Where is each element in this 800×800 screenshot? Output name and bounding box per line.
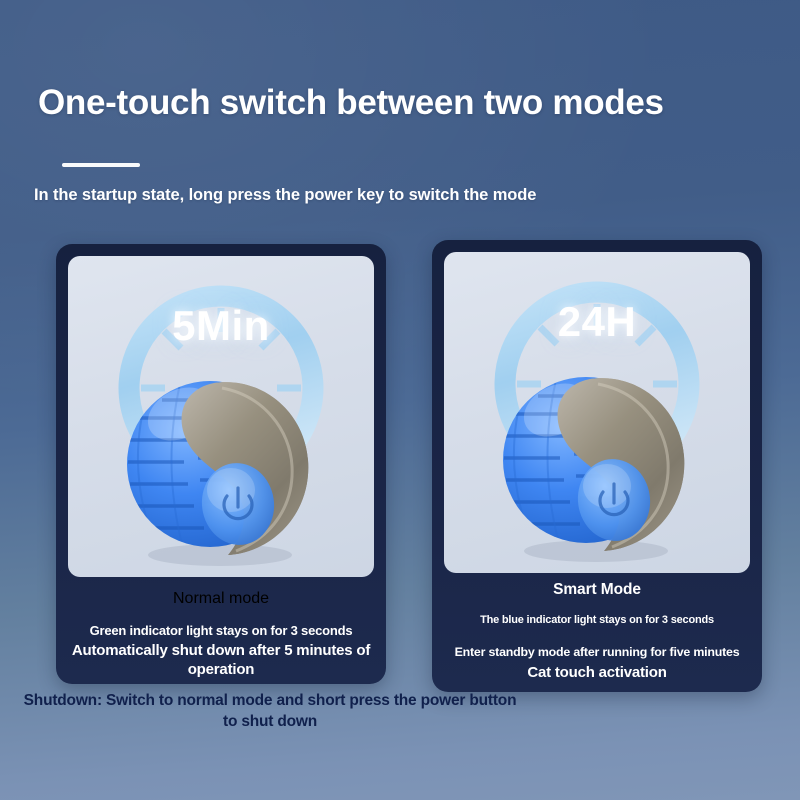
mode-desc-text-smart-1: The blue indicator light stays on for 3 …: [480, 614, 714, 626]
product-ball-normal: [118, 352, 328, 567]
mode-desc-normal-2: Automatically shut down after 5 minutes …: [56, 642, 386, 680]
product-image-panel-normal: 5Min: [68, 256, 374, 577]
mode-desc-smart-3: Cat touch activation: [432, 664, 762, 683]
page-title: One-touch switch between two modes: [38, 84, 758, 123]
mode-title-smart: Smart Mode: [432, 581, 762, 599]
mode-card-normal: 5Min: [56, 244, 386, 684]
mode-desc-text-normal-2: Automatically shut down after 5 minutes …: [72, 642, 370, 678]
mode-desc-smart-1: The blue indicator light stays on for 3 …: [432, 610, 762, 628]
title-underline-divider: [62, 163, 140, 167]
mode-title-normal: Normal mode: [56, 590, 386, 608]
badge-duration-smart: 24H: [444, 298, 750, 346]
mode-title-text-smart: Smart Mode: [553, 581, 641, 598]
shutdown-instruction: Shutdown: Switch to normal mode and shor…: [20, 691, 520, 733]
mode-desc-text-normal-1: Green indicator light stays on for 3 sec…: [90, 623, 353, 638]
mode-desc-text-smart-3: Cat touch activation: [527, 664, 666, 681]
page-subtitle: In the startup state, long press the pow…: [34, 186, 764, 205]
marketing-graphic: One-touch switch between two modes In th…: [0, 0, 800, 800]
badge-duration-normal: 5Min: [68, 302, 374, 350]
mode-desc-text-smart-2: Enter standby mode after running for fiv…: [455, 645, 740, 659]
product-ball-smart: [494, 348, 704, 563]
product-image-panel-smart: 24H: [444, 252, 750, 573]
mode-card-smart: 24H: [432, 240, 762, 692]
mode-desc-smart-2: Enter standby mode after running for fiv…: [432, 643, 762, 661]
mode-desc-normal-1: Green indicator light stays on for 3 sec…: [56, 622, 386, 640]
